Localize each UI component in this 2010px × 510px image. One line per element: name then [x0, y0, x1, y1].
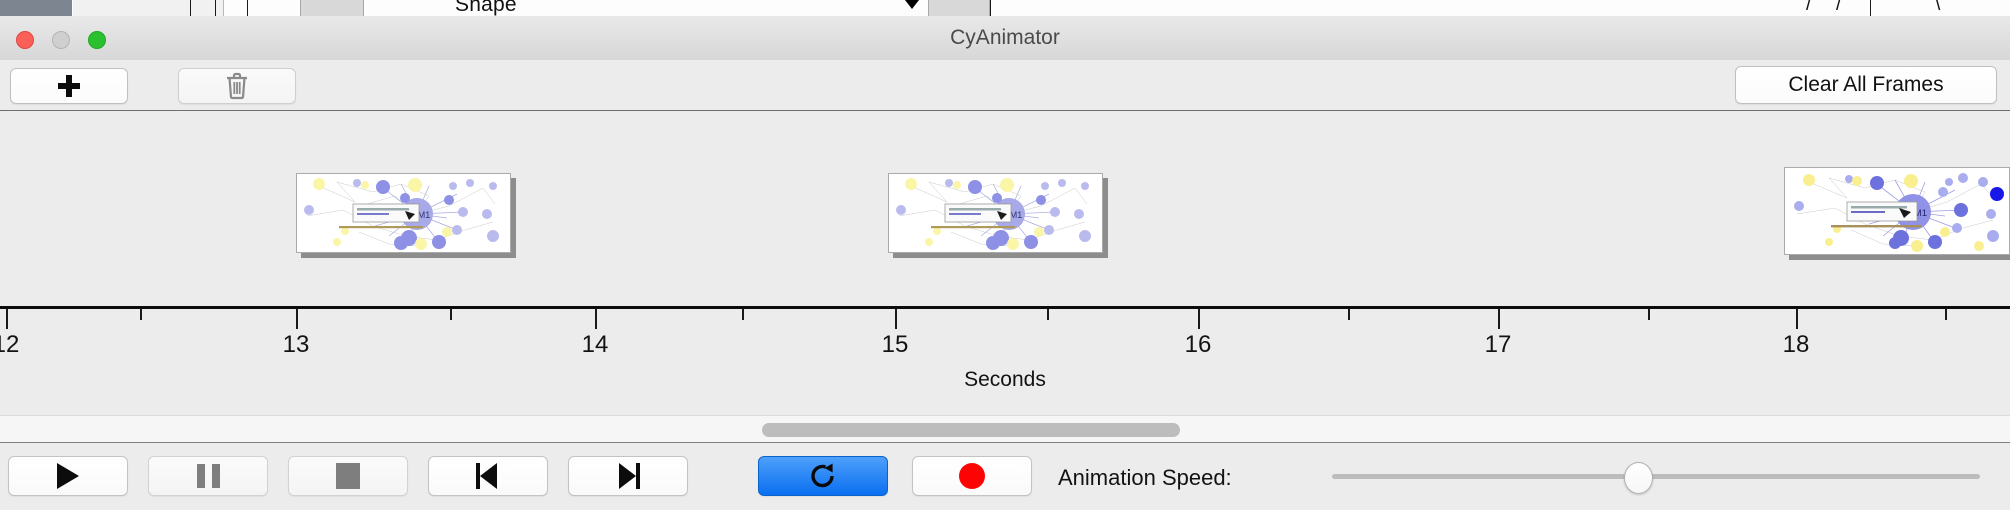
- animation-speed-thumb[interactable]: [1624, 462, 1653, 494]
- background-divider: [990, 0, 991, 16]
- window-title: CyAnimator: [0, 16, 2010, 60]
- axis-tick: [1796, 309, 1798, 329]
- axis-title: Seconds: [0, 368, 2010, 392]
- background-divider: [190, 0, 191, 16]
- scrollbar-thumb[interactable]: [762, 423, 1180, 437]
- toolbar: Clear All Frames: [0, 60, 2010, 111]
- skip-end-icon: [615, 463, 641, 489]
- axis-tick: [296, 309, 298, 329]
- clear-all-frames-button[interactable]: Clear All Frames: [1735, 66, 1997, 104]
- axis-tick-label: 16: [1185, 331, 1212, 359]
- frame-thumbnail[interactable]: MCM1: [296, 173, 511, 253]
- background-glyph-icon: /: [1836, 0, 1841, 16]
- axis-tick-label: 17: [1485, 331, 1512, 359]
- play-button[interactable]: [8, 456, 128, 496]
- axis-tick-minor: [1648, 309, 1650, 320]
- timeline-track[interactable]: MCM1: [0, 110, 2010, 335]
- axis-tick-label: 13: [283, 331, 310, 359]
- axis-tick-label: 12: [0, 331, 19, 359]
- axis-tick-minor: [1945, 309, 1947, 320]
- trash-icon: [225, 72, 249, 100]
- playback-controls: Animation Speed:: [0, 443, 2010, 510]
- background-field: [300, 0, 364, 16]
- background-window-strip: Shape / / \: [0, 0, 2010, 17]
- skip-to-start-button[interactable]: [428, 456, 548, 496]
- background-divider: [1870, 0, 1871, 16]
- axis-tick: [595, 309, 597, 329]
- axis-tick: [1498, 309, 1500, 329]
- background-caret-icon: [905, 0, 919, 9]
- axis-tick-label: 18: [1783, 331, 1810, 359]
- stop-icon: [336, 463, 360, 489]
- stop-button[interactable]: [288, 456, 408, 496]
- background-glyph-icon: \: [1935, 0, 1940, 16]
- axis-tick-label: 15: [882, 331, 909, 359]
- skip-start-icon: [475, 463, 501, 489]
- axis-tick-minor: [1047, 309, 1049, 320]
- animation-speed-label: Animation Speed:: [1058, 465, 1232, 491]
- record-button[interactable]: [912, 456, 1032, 496]
- play-icon: [57, 463, 79, 489]
- axis-tick: [895, 309, 897, 329]
- timeline-ruler: 12 13 14 15 16 17 18 Seconds: [0, 306, 2010, 396]
- add-frame-button[interactable]: [10, 68, 128, 104]
- animation-speed-slider[interactable]: [1332, 474, 1980, 479]
- horizontal-scrollbar[interactable]: [0, 415, 2010, 443]
- axis-tick-minor: [1348, 309, 1350, 320]
- axis-tick: [1198, 309, 1200, 329]
- frame-thumbnail[interactable]: MCM1: [888, 173, 1103, 253]
- axis-tick-minor: [742, 309, 744, 320]
- pause-icon: [197, 464, 220, 488]
- frame-thumbnail[interactable]: MCM1: [1784, 167, 2010, 255]
- background-window-word: Shape: [455, 0, 517, 17]
- loop-icon: [808, 461, 838, 491]
- clear-all-frames-label: Clear All Frames: [1788, 73, 1943, 97]
- axis-tick-minor: [140, 309, 142, 320]
- axis-tick: [6, 309, 8, 329]
- pause-button[interactable]: [148, 456, 268, 496]
- background-divider: [215, 0, 216, 16]
- plus-icon: [57, 74, 81, 98]
- cyanimator-window: Shape / / \ CyAnimator Clear All Frames: [0, 0, 2010, 510]
- background-glyph-icon: /: [1806, 0, 1811, 16]
- titlebar: CyAnimator: [0, 16, 2010, 61]
- axis-line: [0, 306, 2010, 309]
- background-tab: [73, 0, 224, 16]
- axis-tick-minor: [450, 309, 452, 320]
- axis-tick-label: 14: [582, 331, 609, 359]
- skip-to-end-button[interactable]: [568, 456, 688, 496]
- record-icon: [959, 463, 985, 489]
- loop-button[interactable]: [758, 456, 888, 496]
- background-selected-tab: [0, 0, 72, 16]
- delete-frame-button[interactable]: [178, 68, 296, 104]
- background-divider: [247, 0, 248, 16]
- background-field: [928, 0, 990, 16]
